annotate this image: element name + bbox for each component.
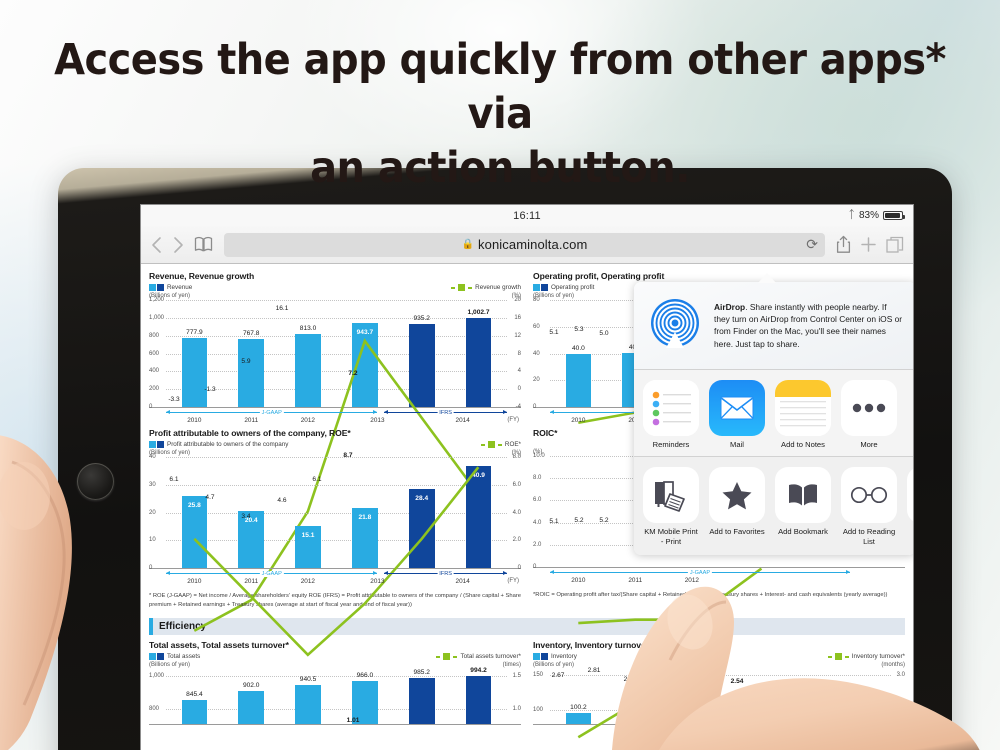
y-tick: 200 [149, 386, 159, 392]
legend-inventory-turnover: Inventory turnover* [828, 653, 905, 660]
y-tick: 800 [149, 333, 159, 339]
y-tick: 400 [149, 368, 159, 374]
chart-title: Revenue, Revenue growth [149, 271, 521, 281]
y2-tick: 0 [518, 386, 521, 392]
y2-tick: 16 [514, 315, 521, 321]
battery-icon [883, 211, 903, 220]
legend-label: ROE* [505, 441, 521, 448]
x-tick: 2013 [370, 578, 384, 585]
mail-icon [709, 380, 765, 436]
line-value: 3.4 [241, 513, 250, 520]
line-value: 2.82 [695, 667, 708, 674]
line-value: 5.1 [549, 329, 558, 336]
line-value: 2.54 [731, 678, 744, 685]
share-apps-row: Reminders Mail [634, 370, 914, 457]
x-tick: 2011 [244, 578, 258, 585]
turnover-line [166, 669, 507, 750]
star-icon [709, 467, 765, 523]
y2-axis-unit: (months) [881, 662, 905, 668]
bluetooth-icon: ᛏ [848, 210, 855, 221]
status-clock: 16:11 [513, 210, 541, 222]
status-right-cluster: ᛏ 83% [848, 205, 903, 226]
y2-tick: 1.0 [513, 706, 521, 712]
reload-icon[interactable]: ⟳ [806, 236, 818, 253]
y-tick: 600 [149, 351, 159, 357]
line-value: 2.81 [588, 667, 601, 674]
y2-tick: -4 [516, 404, 521, 410]
y-tick: 1,200 [149, 297, 164, 303]
chart-title: Inventory, Inventory turnover* [533, 640, 905, 650]
share-target-more[interactable]: More [841, 380, 897, 449]
chart-legend: Inventory Inventory turnover* [533, 653, 905, 660]
line-value: 2.52 [660, 679, 673, 686]
battery-percent-label: 83% [859, 210, 879, 221]
y-tick: 20 [149, 510, 156, 516]
action-add-to-reading-list[interactable]: Add to Reading List [841, 467, 897, 546]
airdrop-icon [647, 297, 703, 353]
line-value: 7.2 [348, 370, 357, 377]
x-tick: 2011 [628, 577, 642, 584]
line-value: -1.3 [204, 386, 215, 393]
line-value: 5.9 [241, 358, 250, 365]
share-icon[interactable] [836, 235, 851, 254]
y-tick: 0 [149, 565, 152, 571]
chart-legend: Total assets Total assets turnover* [149, 653, 521, 660]
x-tick: 2010 [571, 417, 585, 424]
legend-roe: ROE* [481, 441, 521, 448]
chart-inventory: Inventory, Inventory turnover* Inventory… [533, 640, 905, 725]
y-tick: 4.0 [533, 520, 541, 526]
legend-operating-profit: Operating profit [533, 284, 594, 291]
y2-tick: 6.0 [513, 482, 521, 488]
line-value: 6.1 [169, 476, 178, 483]
y-tick: 10 [149, 537, 156, 543]
standard-span-jgaap: J-GAAP [166, 570, 377, 577]
line-value: 5.0 [599, 330, 608, 337]
safari-toolbar: 🔒 konicaminolta.com ⟳ [141, 226, 913, 264]
share-target-reminders[interactable]: Reminders [643, 380, 699, 449]
y2-tick: 3.0 [897, 672, 905, 678]
share-target-label: Mail [709, 440, 765, 449]
legend-label: Operating profit [551, 284, 594, 291]
chart-profit-roe: Profit attributable to owners of the com… [149, 428, 521, 609]
chart-grid-bottom: Total assets, Total assets turnover* Tot… [141, 640, 913, 725]
line-value: 8.7 [343, 452, 352, 459]
x-tick: 2010 [187, 578, 201, 585]
legend-total-assets-turnover: Total assets turnover* [436, 653, 521, 660]
tabs-icon[interactable] [886, 236, 904, 254]
line-value: 4.6 [277, 497, 286, 504]
x-axis: J-GAAP IFRS 2010 2011 2012 2013 2014 (FY… [166, 408, 507, 428]
x-tick: 2010 [187, 417, 201, 424]
chart-title: Profit attributable to owners of the com… [149, 428, 521, 438]
x-axis-unit: (FY) [507, 578, 519, 584]
line-value: 5.2 [599, 517, 608, 524]
status-bar: 16:11 ᛏ 83% [141, 205, 913, 226]
y-tick: 0 [533, 564, 536, 570]
more-dots-icon [841, 380, 897, 436]
y-tick: 10.0 [533, 453, 545, 459]
glasses-icon [841, 467, 897, 523]
line-value: 2.67 [552, 672, 565, 679]
reminders-icon [643, 380, 699, 436]
back-icon[interactable] [150, 236, 163, 254]
headline-line-2: an action button. [35, 142, 965, 196]
line-value: 5.1 [549, 518, 558, 525]
action-label: Add to Favorites [709, 527, 765, 536]
x-tick: 2011 [244, 417, 258, 424]
legend-revenue-growth: Revenue growth [451, 284, 521, 291]
airdrop-description: AirDrop. Share instantly with people nea… [714, 297, 903, 353]
popover-arrow [758, 273, 776, 283]
chart-plot-area: 150 100 3.0 100.2 105.0 112.4 115.2 115.… [533, 669, 905, 725]
notes-icon [775, 380, 831, 436]
y-tick: 8.0 [533, 475, 541, 481]
y2-tick: 0 [518, 565, 521, 571]
y-tick: 150 [533, 672, 543, 678]
chart-plot-area: 1,200 1,000 800 600 400 200 0 20 16 12 8… [149, 300, 521, 408]
y-tick: 800 [149, 706, 159, 712]
y2-tick: 4 [518, 368, 521, 374]
chart-legend: Revenue Revenue growth [149, 284, 521, 291]
action-add-bookmark[interactable]: Add Bookmark [775, 467, 831, 546]
legend-profit: Profit attributable to owners of the com… [149, 441, 288, 448]
share-target-label: More [841, 440, 897, 449]
action-add-to-favorites[interactable]: Add to Favorites [709, 467, 765, 546]
y2-tick: 1.5 [513, 673, 521, 679]
y-tick: 80 [533, 297, 540, 303]
action-km-mobile-print[interactable]: KM Mobile Print - Print [643, 467, 699, 546]
line-value: 5.3 [574, 326, 583, 333]
line-value: 5.2 [574, 517, 583, 524]
standard-span-jgaap: J-GAAP [550, 569, 850, 576]
y-tick: 40 [533, 351, 540, 357]
legend-label: Inventory turnover* [852, 653, 905, 660]
line-value: 6.1 [312, 476, 321, 483]
page-headline: Access the app quickly from other apps* … [35, 34, 965, 195]
airdrop-section[interactable]: AirDrop. Share instantly with people nea… [634, 282, 914, 370]
legend-label: Profit attributable to owners of the com… [167, 441, 288, 448]
y-tick: 60 [533, 324, 540, 330]
action-partial-hidden[interactable]: H [907, 467, 914, 546]
standard-span-ifrs: IFRS [384, 409, 507, 416]
y-tick: 30 [149, 482, 156, 488]
line-value: -3.3 [168, 396, 179, 403]
line-value: 4.7 [205, 494, 214, 501]
y-tick: 100 [533, 707, 543, 713]
y-tick: 1,000 [149, 315, 164, 321]
chart-units: (Billions of yen) (%) [149, 450, 521, 456]
chart-plot-area: 40 30 20 10 0 8.0 6.0 4.0 2.0 0 25.8 20.… [149, 457, 521, 569]
action-label: Add to Reading List [841, 527, 897, 546]
chart-legend: Profit attributable to owners of the com… [149, 441, 521, 448]
y2-tick: 20 [514, 297, 521, 303]
y-tick: 0 [149, 404, 152, 410]
chart-title: Operating profit, Operating profit [533, 271, 905, 281]
chart-title: Total assets, Total assets turnover* [149, 640, 521, 650]
x-tick: 2012 [301, 417, 315, 424]
y2-axis-unit: (times) [503, 662, 521, 668]
legend-label: Total assets [167, 653, 200, 660]
y-axis-unit: (Billions of yen) [149, 662, 190, 668]
lock-icon: 🔒 [462, 239, 474, 250]
y-tick: 0 [533, 404, 536, 410]
chart-revenue: Revenue, Revenue growth Revenue Revenue … [149, 271, 521, 428]
x-tick: 2010 [571, 577, 585, 584]
action-label: Add Bookmark [775, 527, 831, 536]
x-tick: 2013 [370, 417, 384, 424]
legend-label: Total assets turnover* [460, 653, 521, 660]
home-button[interactable] [77, 463, 114, 500]
new-tab-icon[interactable] [860, 236, 877, 253]
chart-units: (Billions of yen) (times) [149, 662, 521, 668]
y2-tick: 4.0 [513, 510, 521, 516]
y2-tick: 2.0 [513, 537, 521, 543]
y2-tick: 12 [514, 333, 521, 339]
headline-line-1: Access the app quickly from other apps* … [54, 35, 946, 139]
y2-tick: 8 [518, 351, 521, 357]
share-target-notes[interactable]: Add to Notes [775, 380, 831, 449]
chart-total-assets: Total assets, Total assets turnover* Tot… [149, 640, 521, 725]
url-text: konicaminolta.com [478, 237, 587, 252]
printer-icon [643, 467, 699, 523]
y-tick: 2.0 [533, 542, 541, 548]
line-value: 1.01 [347, 717, 360, 724]
x-axis: J-GAAP 2010 2011 2012 [550, 568, 891, 588]
airdrop-title: AirDrop [714, 302, 745, 312]
partial-icon [907, 467, 914, 523]
x-tick: 2012 [301, 578, 315, 585]
bookmarks-icon[interactable] [194, 236, 213, 253]
share-target-mail[interactable]: Mail [709, 380, 765, 449]
standard-span-jgaap: J-GAAP [166, 409, 377, 416]
y-tick: 6.0 [533, 497, 541, 503]
ipad-device: 16:11 ᛏ 83% 🔒 konicaminolta.com ⟳ [58, 168, 952, 750]
inventory-turnover-line [550, 669, 891, 750]
legend-revenue: Revenue [149, 284, 192, 291]
line-value: 16.1 [276, 305, 289, 312]
open-book-icon [775, 467, 831, 523]
x-axis-unit: (FY) [507, 417, 519, 423]
legend-label: Revenue [167, 284, 192, 291]
x-tick: 2012 [685, 577, 699, 584]
x-tick: 2014 [456, 417, 470, 424]
legend-inventory: Inventory [533, 653, 577, 660]
url-bar[interactable]: 🔒 konicaminolta.com ⟳ [224, 233, 825, 257]
web-page-content: Revenue, Revenue growth Revenue Revenue … [141, 264, 913, 750]
share-target-label: Add to Notes [775, 440, 831, 449]
y2-tick: 8.0 [513, 454, 521, 460]
y-tick: 1,000 [149, 673, 164, 679]
share-actions-row: KM Mobile Print - Print Add to Favorites [634, 457, 914, 555]
legend-total-assets: Total assets [149, 653, 200, 660]
chart-units: (Billions of yen) (%) [149, 293, 521, 299]
line-value: 2.60 [624, 676, 637, 683]
legend-label: Inventory [551, 653, 577, 660]
y-axis-unit: (Billions of yen) [533, 662, 574, 668]
share-target-label: Reminders [643, 440, 699, 449]
action-label: KM Mobile Print - Print [643, 527, 699, 546]
x-tick: 2014 [456, 578, 470, 585]
share-sheet-popover: AirDrop. Share instantly with people nea… [634, 282, 914, 555]
x-axis: J-GAAP IFRS 2010 2011 2012 2013 2014 (FY… [166, 569, 507, 589]
legend-label: Revenue growth [475, 284, 521, 291]
y-tick: 40 [149, 454, 156, 460]
ipad-screen: 16:11 ᛏ 83% 🔒 konicaminolta.com ⟳ [140, 204, 914, 750]
y-tick: 20 [533, 377, 540, 383]
chart-plot-area: 1,000 800 1.5 1.0 845.4 902.0 940.5 966.… [149, 669, 521, 725]
action-label: H [907, 527, 914, 536]
standard-span-ifrs: IFRS [384, 570, 507, 577]
forward-icon[interactable] [172, 236, 185, 254]
